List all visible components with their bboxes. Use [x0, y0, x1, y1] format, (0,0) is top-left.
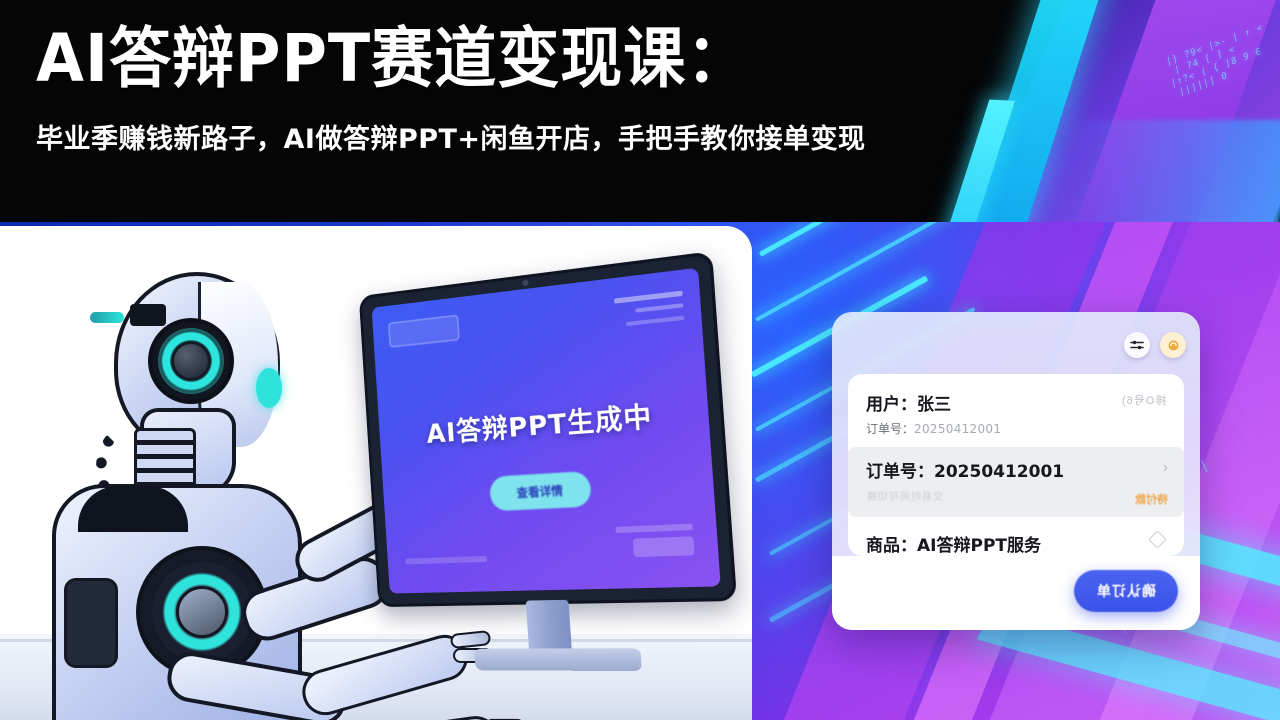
screen-line	[614, 291, 683, 304]
illustration-panel: AI答辩PPT生成中 查看详情	[0, 226, 752, 720]
header-band: |} ?9< |>- | ↑ < | ?4 [ ] < |↑?< ( { |8 …	[0, 0, 1280, 222]
page-subtitle: 毕业季赚钱新路子，AI做答辩PPT+闲鱼开店，手把手教你接单变现	[36, 117, 1156, 156]
status-badge: 待付款	[1135, 491, 1168, 507]
order-card-body: 用户：张三 排O号6) 订单号：20250412001 订单号：20250412…	[848, 374, 1184, 556]
header-text-group: AI答辩PPT赛道变现课： 毕业季赚钱新路子，AI做答辩PPT+闲鱼开店，手把手…	[36, 26, 1156, 156]
screen-widget	[388, 315, 459, 348]
user-row: 用户：张三 排O号6) 订单号：20250412001	[866, 390, 1166, 437]
screen-line	[626, 316, 685, 326]
chevron-right-icon: ›	[1163, 459, 1168, 476]
ghost-text: 排O号6)	[1121, 392, 1166, 408]
screen-title: AI答辩PPT生成中	[379, 390, 710, 454]
screen-line	[405, 556, 487, 564]
goods-label: 商品：AI答辩PPT服务	[866, 531, 1166, 556]
sliders-icon[interactable]	[1124, 332, 1150, 358]
screen-line	[615, 524, 692, 533]
order-card-footer: 确认订单	[832, 556, 1200, 630]
confirm-order-button[interactable]: 确认订单	[1074, 570, 1178, 612]
promo-banner: = n~( | P.I M|\|	[0, 0, 1280, 720]
order-number-label: 订单号：20250412001	[866, 457, 1166, 482]
monitor-stand-neck	[526, 600, 572, 655]
computer-monitor: AI答辩PPT生成中 查看详情	[359, 251, 737, 607]
monitor-stand-base	[474, 648, 642, 671]
robot-hands	[300, 626, 560, 720]
screen-widget	[633, 536, 695, 557]
order-subtext: 订单号：20250412001	[866, 420, 1166, 437]
card-toolbar	[1124, 332, 1186, 358]
screen-cta-button[interactable]: 查看详情	[489, 471, 592, 512]
bell-icon[interactable]	[1160, 332, 1186, 358]
code-glyph-field: |} ?9< |>- | ↑ < | ?4 [ ] < |↑?< ( { |8 …	[1166, 23, 1272, 102]
screen-line	[635, 303, 683, 313]
order-number-row[interactable]: 订单号：20250412001 › 交易时间可切换 待付款	[848, 447, 1184, 517]
monitor-screen: AI答辩PPT生成中 查看详情	[372, 268, 721, 594]
order-card: 用户：张三 排O号6) 订单号：20250412001 订单号：20250412…	[832, 312, 1200, 630]
goods-row: 商品：AI答辩PPT服务 查看详情	[866, 531, 1166, 556]
ghost-text: 交易时间可切换	[866, 488, 943, 503]
page-title: AI答辩PPT赛道变现课：	[36, 24, 1156, 95]
